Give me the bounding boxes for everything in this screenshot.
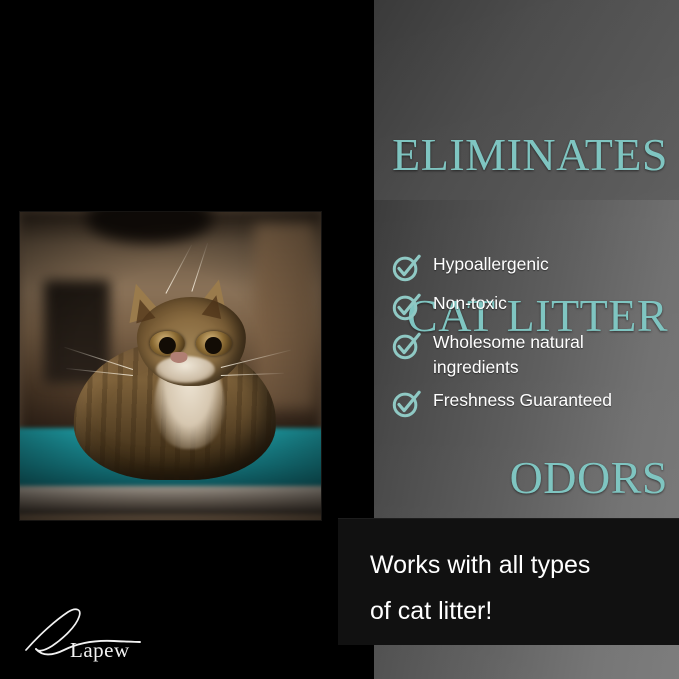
- litter-box-rim: [20, 486, 321, 514]
- banner-line-1: Works with all types: [370, 542, 660, 588]
- works-with-banner: Works with all types of cat litter!: [338, 518, 679, 645]
- check-circle-icon: [391, 331, 421, 361]
- feature-list: Hypoallergenic Non-toxic Wholesome natur…: [391, 252, 671, 427]
- kitten-pupil-right: [205, 337, 222, 354]
- feature-item: Wholesome natural ingredients: [391, 330, 671, 380]
- product-ad-canvas: ELIMINATES CAT LITTER ODORS: [0, 0, 679, 679]
- feature-label: Freshness Guaranteed: [433, 388, 612, 413]
- check-circle-icon: [391, 389, 421, 419]
- kitten: [69, 289, 280, 480]
- feature-label: Wholesome natural ingredients: [433, 330, 671, 380]
- banner-line-2: of cat litter!: [370, 588, 660, 634]
- brand-logo: Lapew: [22, 604, 152, 666]
- feature-item: Freshness Guaranteed: [391, 388, 671, 419]
- kitten-litter-box-photo: [20, 212, 321, 520]
- check-circle-icon: [391, 292, 421, 322]
- feature-item: Hypoallergenic: [391, 252, 671, 283]
- feature-item: Non-toxic: [391, 291, 671, 322]
- headline-line-3: ODORS: [286, 451, 668, 505]
- brand-name: Lapew: [70, 638, 130, 663]
- check-circle-icon: [391, 253, 421, 283]
- headline-line-1: ELIMINATES: [286, 128, 668, 182]
- banner-text: Works with all types of cat litter!: [370, 542, 660, 634]
- feature-label: Hypoallergenic: [433, 252, 549, 277]
- feature-label: Non-toxic: [433, 291, 507, 316]
